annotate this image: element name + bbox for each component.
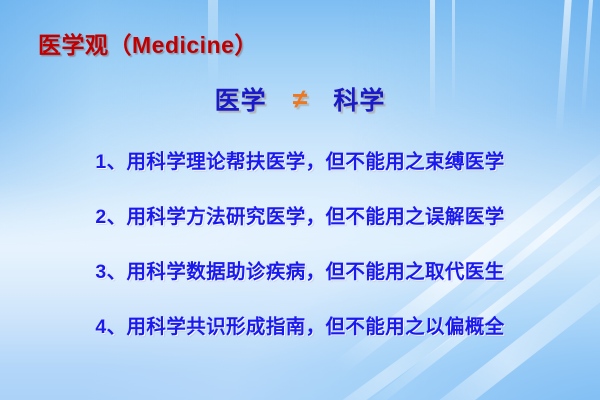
- list-item: 4、用科学共识形成指南，但不能用之以偏概全: [0, 297, 600, 352]
- list-item-text: 4、用科学共识形成指南，但不能用之以偏概全: [95, 310, 504, 339]
- slide-canvas: 医学观（Medicine） 医学 ≠ 科学 1、用科学理论帮扶医学，但不能用之束…: [0, 0, 600, 400]
- list-item: 1、用科学理论帮扶医学，但不能用之束缚医学: [0, 132, 600, 187]
- list-item-text: 3、用科学数据助诊疾病，但不能用之取代医生: [95, 255, 504, 284]
- not-equal-sign-icon: ≠: [293, 86, 308, 113]
- bullet-list: 1、用科学理论帮扶医学，但不能用之束缚医学 2、用科学方法研究医学，但不能用之误…: [0, 132, 600, 352]
- list-item-text: 2、用科学方法研究医学，但不能用之误解医学: [95, 200, 504, 229]
- slide-content: 医学观（Medicine） 医学 ≠ 科学 1、用科学理论帮扶医学，但不能用之束…: [0, 0, 600, 400]
- subtitle-left-term: 医学: [215, 81, 267, 117]
- subtitle-right-term: 科学: [333, 81, 385, 117]
- list-item: 2、用科学方法研究医学，但不能用之误解医学: [0, 187, 600, 242]
- list-item: 3、用科学数据助诊疾病，但不能用之取代医生: [0, 242, 600, 297]
- slide-title: 医学观（Medicine）: [38, 26, 258, 60]
- subtitle-equation: 医学 ≠ 科学: [0, 82, 600, 116]
- list-item-text: 1、用科学理论帮扶医学，但不能用之束缚医学: [95, 145, 504, 174]
